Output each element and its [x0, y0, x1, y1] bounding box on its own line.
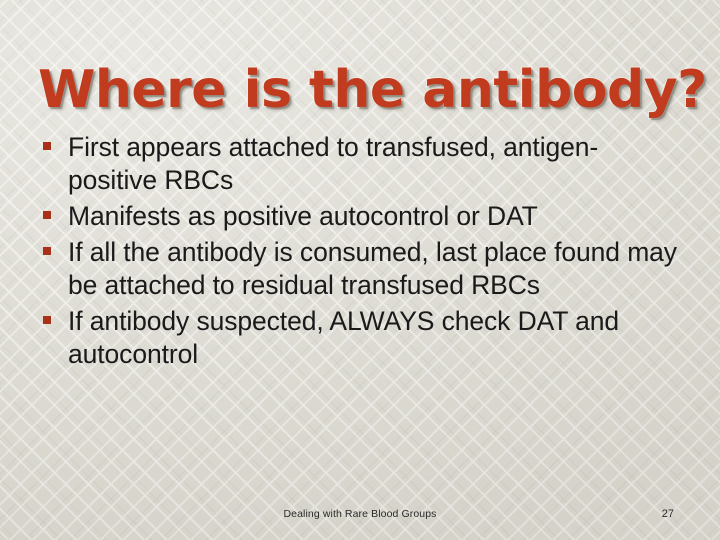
- list-item: If antibody suspected, ALWAYS check DAT …: [38, 305, 686, 371]
- slide-page-number: 27: [662, 508, 674, 520]
- bullet-text: If all the antibody is consumed, last pl…: [68, 236, 686, 302]
- square-bullet-icon: [43, 142, 51, 150]
- bullet-list: First appears attached to transfused, an…: [38, 131, 686, 374]
- bullet-text: Manifests as positive autocontrol or DAT: [68, 200, 686, 233]
- square-bullet-icon: [43, 211, 51, 219]
- bullet-text: If antibody suspected, ALWAYS check DAT …: [68, 305, 686, 371]
- list-item: If all the antibody is consumed, last pl…: [38, 236, 686, 302]
- slide-title: Where is the antibody?: [38, 59, 678, 121]
- footer-note: Dealing with Rare Blood Groups: [0, 508, 720, 520]
- square-bullet-icon: [43, 247, 51, 255]
- presentation-slide: Where is the antibody? First appears att…: [0, 0, 720, 540]
- list-item: First appears attached to transfused, an…: [38, 131, 686, 197]
- list-item: Manifests as positive autocontrol or DAT: [38, 200, 686, 233]
- slide-content: Where is the antibody? First appears att…: [0, 0, 720, 540]
- bullet-text: First appears attached to transfused, an…: [68, 131, 686, 197]
- square-bullet-icon: [43, 316, 51, 324]
